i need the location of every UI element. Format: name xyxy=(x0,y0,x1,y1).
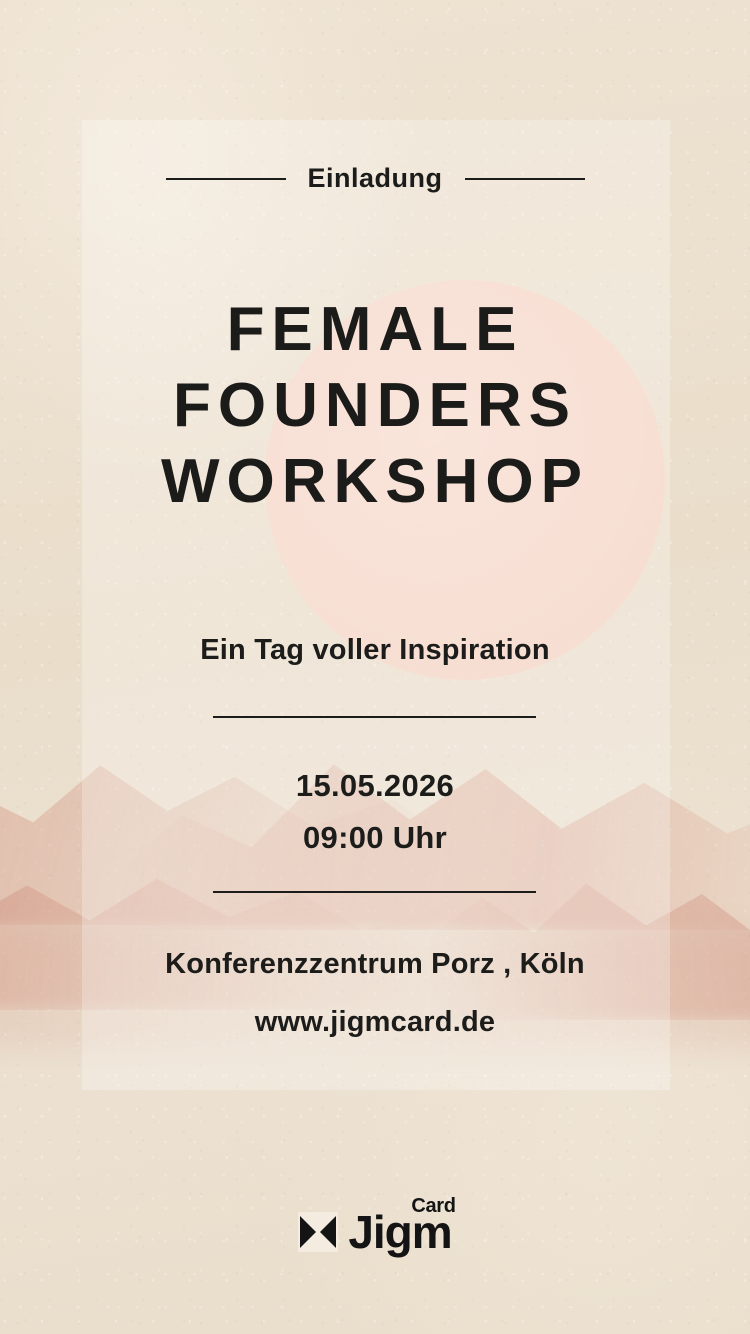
divider-below-date xyxy=(213,891,536,893)
logo-wordmark: Jigm Card xyxy=(348,1212,451,1252)
eyebrow-rule-left xyxy=(166,178,286,180)
event-datetime: 15.05.2026 09:00 Uhr xyxy=(0,768,750,856)
event-title-line-3: WORKSHOP xyxy=(0,444,750,520)
invitation-card: Einladung FEMALE FOUNDERS WORKSHOP Ein T… xyxy=(0,0,750,1334)
event-location-block: Konferenzzentrum Porz , Köln www.jigmcar… xyxy=(0,948,750,1039)
logo-superscript: Card xyxy=(411,1186,455,1226)
eyebrow-rule-right xyxy=(465,178,585,180)
event-website[interactable]: www.jigmcard.de xyxy=(0,1006,750,1039)
event-date: 15.05.2026 xyxy=(0,768,750,804)
card-content: Einladung FEMALE FOUNDERS WORKSHOP Ein T… xyxy=(0,0,750,1334)
event-time: 09:00 Uhr xyxy=(0,820,750,856)
eyebrow-row: Einladung xyxy=(0,163,750,194)
event-title-line-2: FOUNDERS xyxy=(0,368,750,444)
event-venue: Konferenzzentrum Porz , Köln xyxy=(0,948,750,981)
event-title: FEMALE FOUNDERS WORKSHOP xyxy=(0,292,750,520)
brand-logo: Jigm Card xyxy=(0,1212,750,1252)
event-subtitle: Ein Tag voller Inspiration xyxy=(0,634,750,667)
bowtie-icon xyxy=(298,1212,338,1252)
eyebrow-label: Einladung xyxy=(308,163,443,194)
event-title-line-1: FEMALE xyxy=(0,292,750,368)
divider-above-date xyxy=(213,716,536,718)
